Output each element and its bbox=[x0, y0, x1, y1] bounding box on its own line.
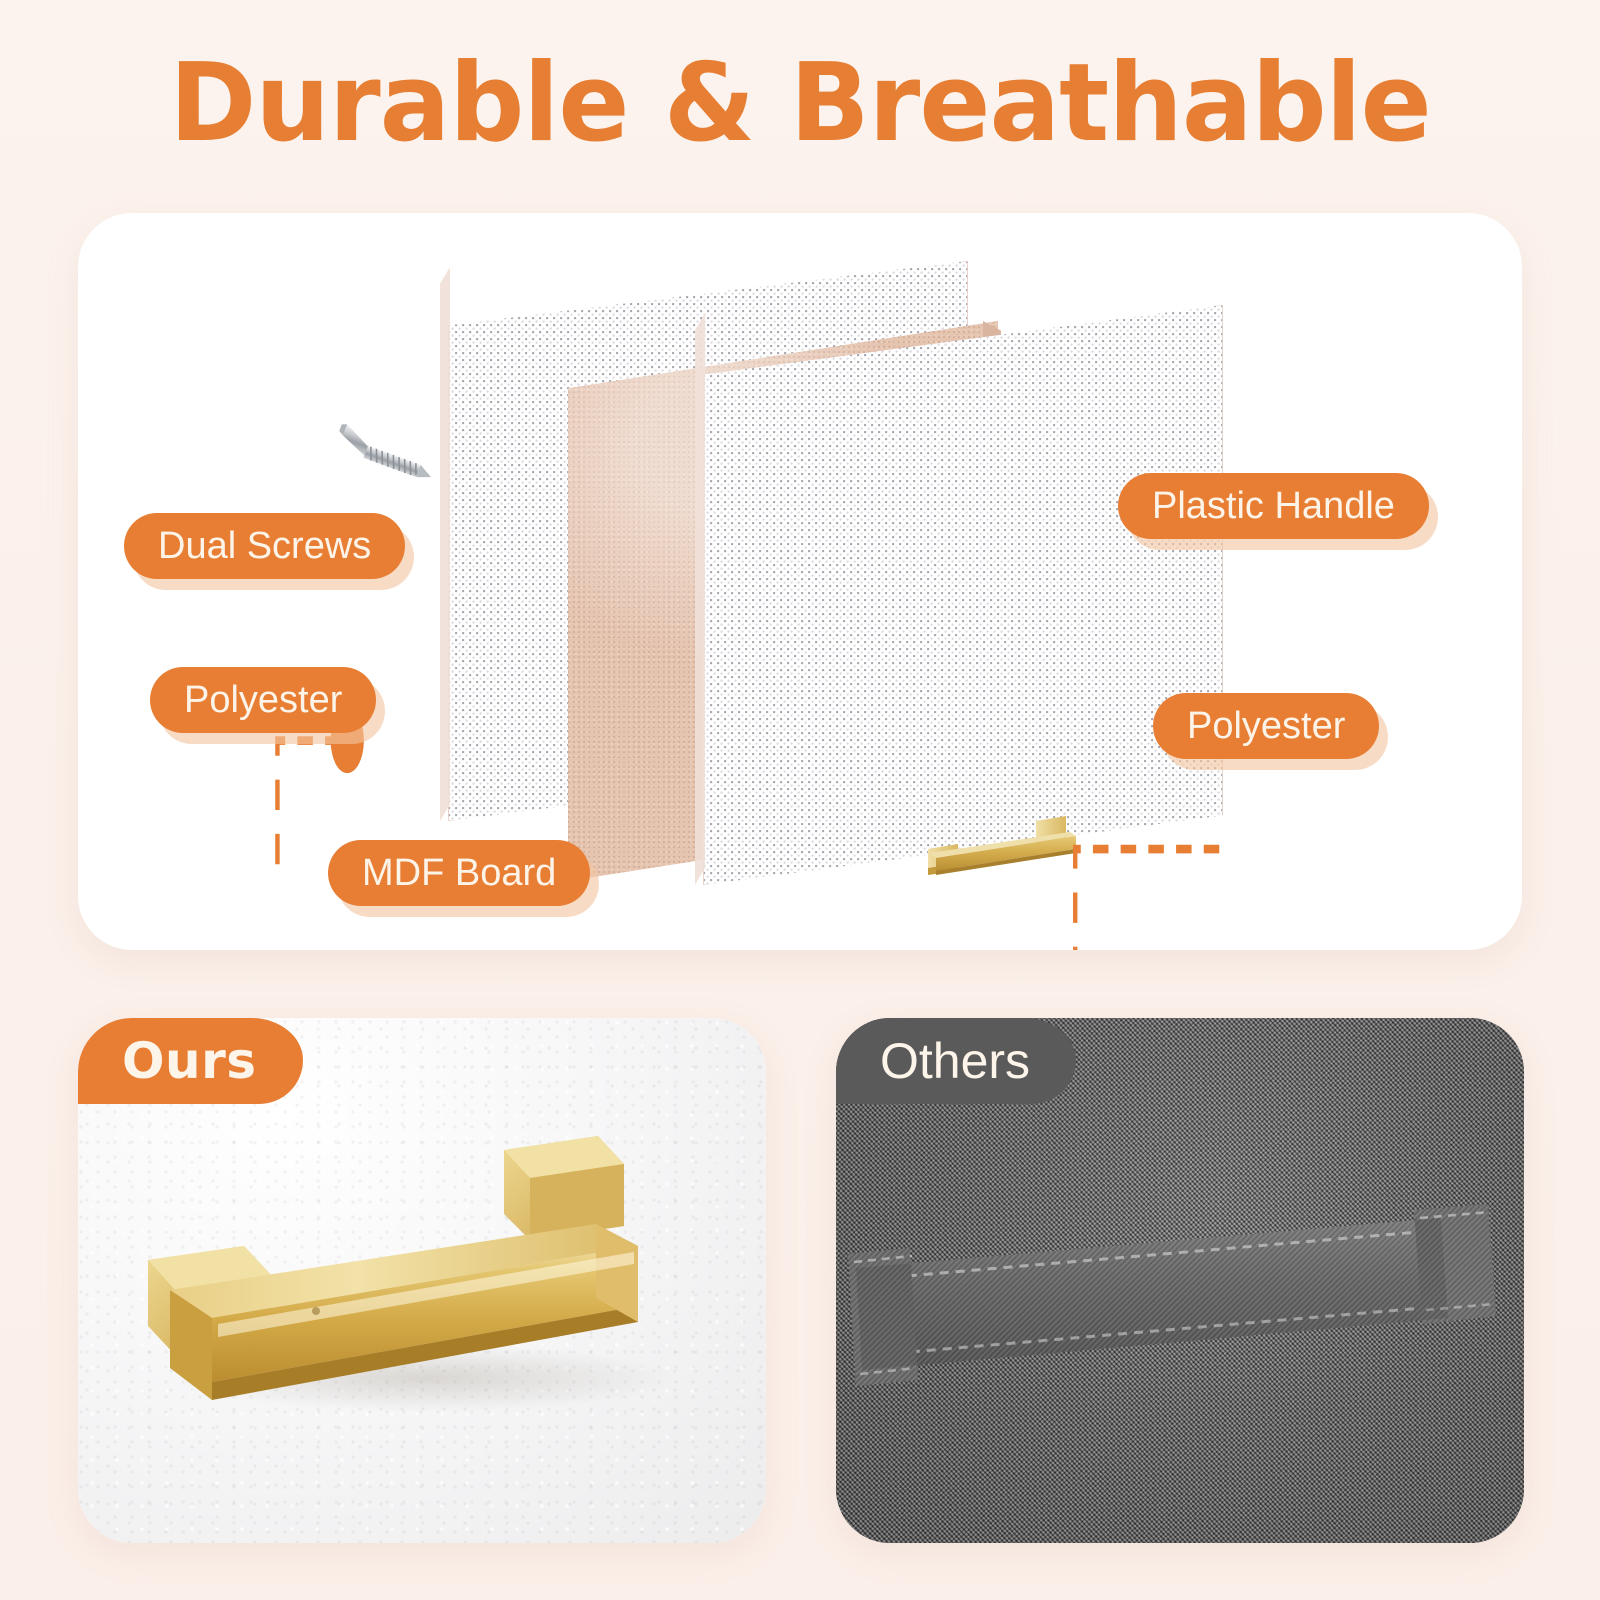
callout-label: Polyester bbox=[184, 679, 342, 722]
callout-dual-screws[interactable]: Dual Screws bbox=[124, 513, 405, 579]
gold-handle-icon bbox=[920, 813, 1080, 875]
infographic-root: Durable & Breathable bbox=[0, 0, 1600, 1600]
callout-mdf-board[interactable]: MDF Board bbox=[328, 840, 590, 906]
others-badge-label: Others bbox=[880, 1032, 1030, 1090]
material-breakdown-card: Dual Screws Polyester MDF Board Plastic … bbox=[78, 213, 1522, 950]
ours-badge-label: Ours bbox=[122, 1032, 257, 1090]
page-title: Durable & Breathable bbox=[24, 46, 1576, 163]
callout-plastic-handle[interactable]: Plastic Handle bbox=[1118, 473, 1429, 539]
ours-comparison-card: Ours bbox=[78, 1018, 766, 1543]
layer-polyester-front bbox=[703, 305, 1223, 885]
others-comparison-card: Others bbox=[836, 1018, 1524, 1543]
ours-badge: Ours bbox=[78, 1018, 303, 1104]
callout-label: Dual Screws bbox=[158, 525, 371, 568]
layer-polyester-front-edge bbox=[695, 313, 705, 885]
screw-icon bbox=[336, 419, 452, 491]
layer-polyester-back-edge bbox=[440, 267, 450, 821]
callout-polyester-left[interactable]: Polyester bbox=[150, 667, 376, 733]
callout-label: MDF Board bbox=[362, 852, 556, 895]
exploded-diagram bbox=[78, 213, 1522, 950]
others-badge: Others bbox=[836, 1018, 1076, 1104]
gold-handle-photo bbox=[126, 1128, 726, 1428]
callout-polyester-right[interactable]: Polyester bbox=[1153, 693, 1379, 759]
callout-label: Polyester bbox=[1187, 705, 1345, 748]
callout-label: Plastic Handle bbox=[1152, 485, 1395, 528]
